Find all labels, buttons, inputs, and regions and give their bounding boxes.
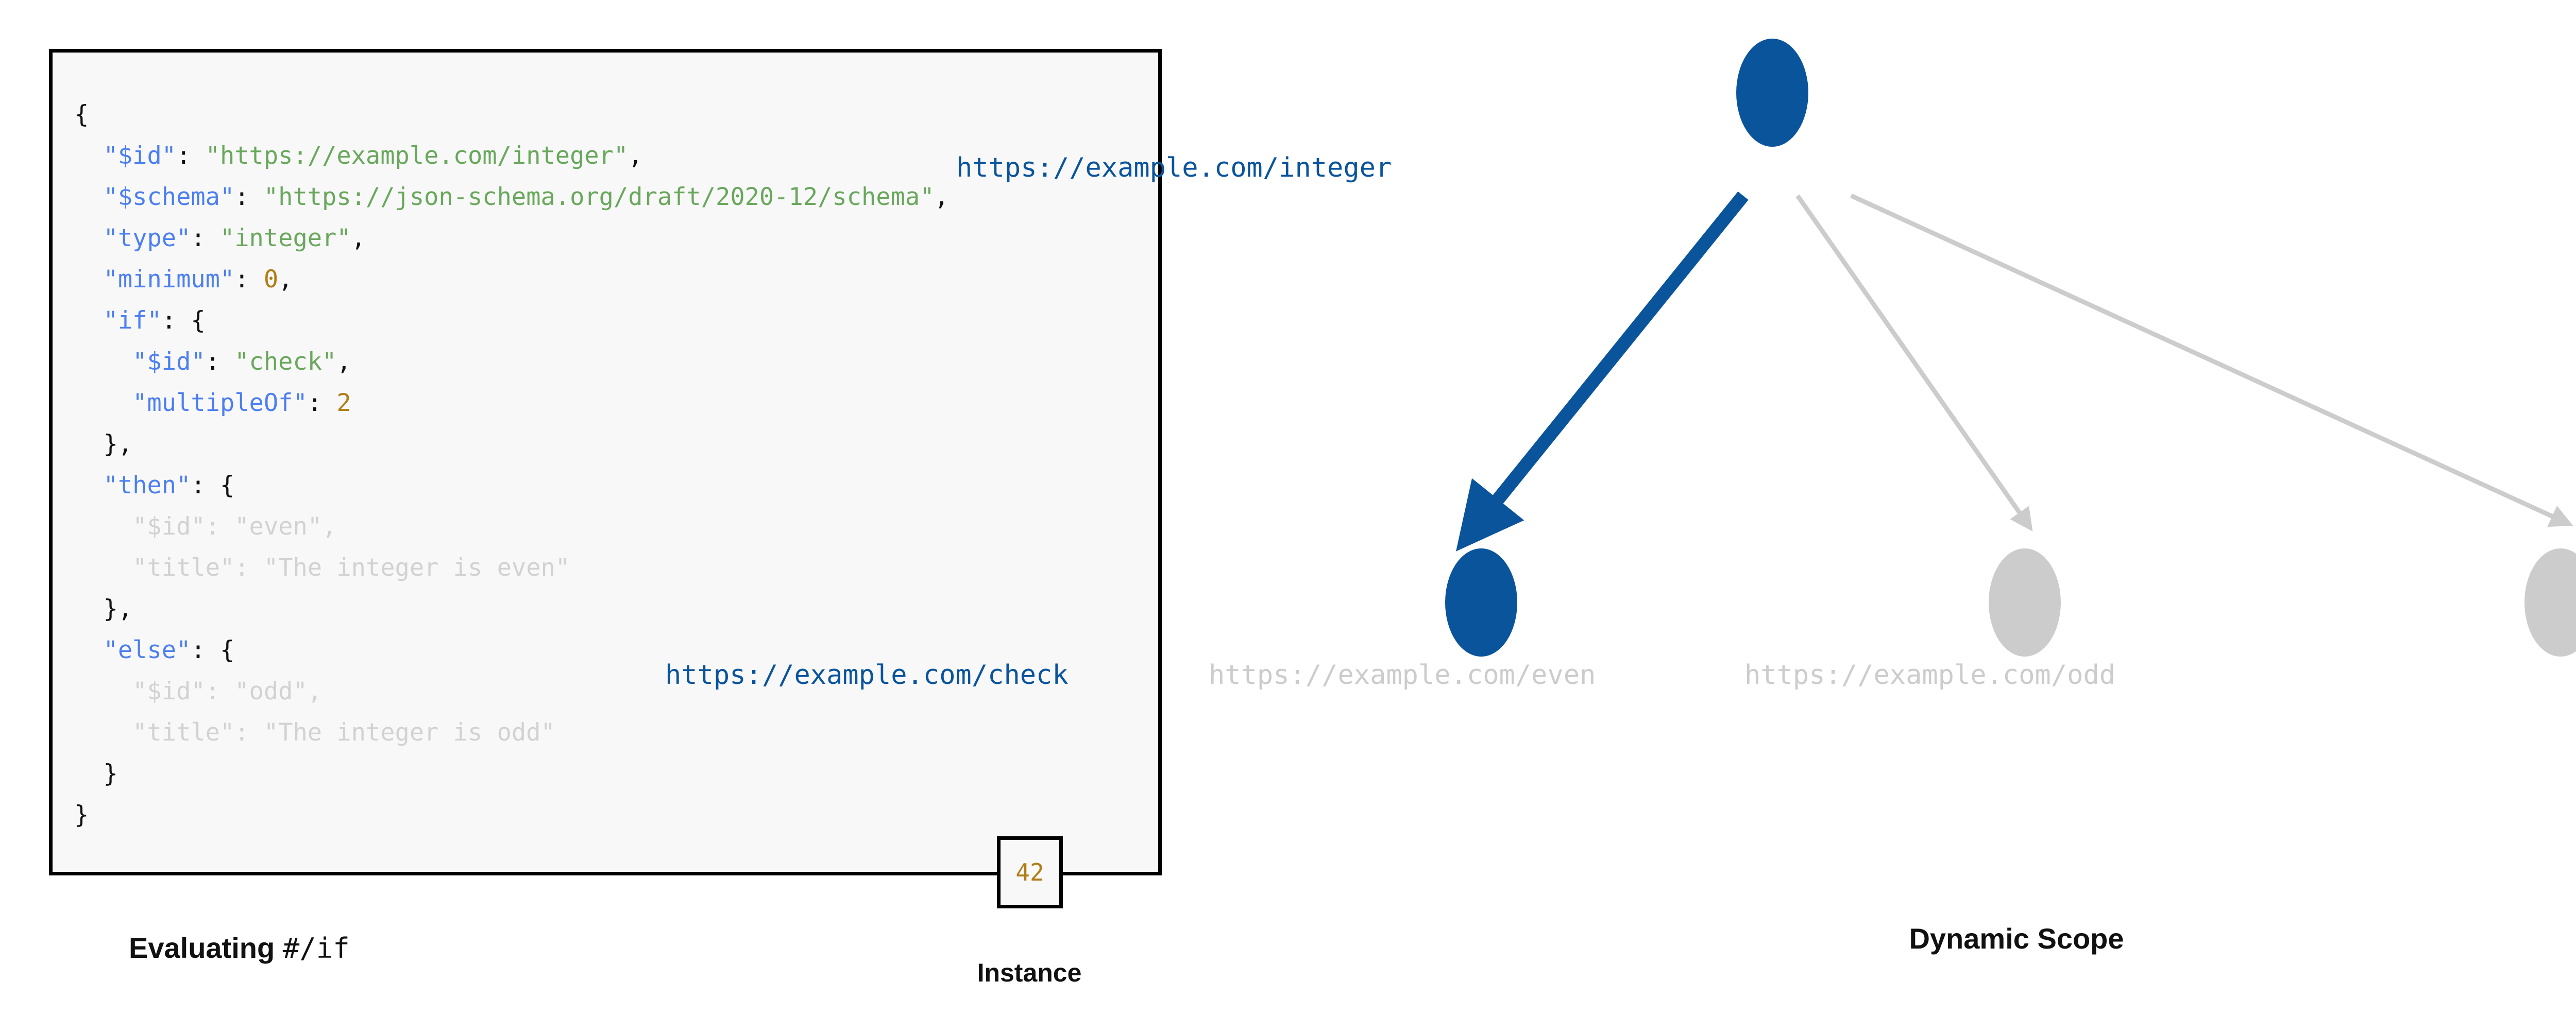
code-line: "minimum": 0, <box>74 259 949 300</box>
code-token: }, <box>104 595 133 623</box>
dynamic-scope-caption: Dynamic Scope <box>1733 922 2300 955</box>
code-token: { <box>74 100 89 129</box>
graph-node-even[interactable] <box>1989 548 2061 657</box>
evaluating-caption-pointer: #/if <box>283 932 350 965</box>
code-line: "type": "integer", <box>74 218 949 259</box>
code-token: } <box>74 801 89 829</box>
schema-code-listing: { "$id": "https://example.com/integer", … <box>74 94 949 836</box>
code-token: "else" <box>104 636 191 664</box>
instance-box: 42 <box>997 836 1063 908</box>
code-line: }, <box>74 589 949 630</box>
code-line: }, <box>74 424 949 465</box>
code-token: }, <box>104 430 133 458</box>
code-token: "check" <box>234 348 336 376</box>
code-line: "$id": "https://example.com/integer", <box>74 135 949 177</box>
code-token: , <box>336 348 351 376</box>
code-token: "https://example.com/integer" <box>206 142 629 170</box>
code-token: , <box>278 265 293 294</box>
evaluating-caption: Evaluating #/if <box>129 931 350 965</box>
code-line: "title": "The integer is odd" <box>74 712 949 753</box>
code-token: "if" <box>104 306 162 335</box>
graph-edges <box>1481 196 2561 520</box>
instance-caption: Instance <box>952 958 1107 988</box>
code-token: : <box>176 142 206 170</box>
code-token: "$id" <box>104 142 176 170</box>
code-token: "$schema" <box>104 183 235 211</box>
code-line: { <box>74 94 949 135</box>
code-line: } <box>74 795 949 836</box>
graph-edge <box>1481 196 1743 520</box>
code-token: , <box>628 142 642 170</box>
code-token: : <box>234 265 264 294</box>
graph-edge <box>1851 196 2561 520</box>
code-line: } <box>74 753 949 795</box>
code-token: "https://json-schema.org/draft/2020-12/s… <box>264 183 935 211</box>
code-line: "$id": "check", <box>74 341 949 383</box>
code-line: "then": { <box>74 465 949 506</box>
code-token: : { <box>162 306 206 335</box>
graph-node-label-even: https://example.com/even <box>1209 660 1596 691</box>
graph-node-check[interactable] <box>1445 548 1517 657</box>
graph-node-odd[interactable] <box>2524 548 2576 657</box>
code-token: "$id": "odd", <box>132 677 322 705</box>
graph-node-label-odd: https://example.com/odd <box>1744 660 2115 691</box>
code-token: , <box>935 183 949 211</box>
code-token: "integer" <box>220 224 351 252</box>
code-line: "$schema": "https://json-schema.org/draf… <box>74 177 949 218</box>
code-token: : <box>308 389 337 417</box>
code-token: } <box>104 760 118 788</box>
code-line: "$id": "even", <box>74 506 949 547</box>
code-line: "if": { <box>74 300 949 341</box>
code-token: : <box>206 348 235 376</box>
code-token: "multipleOf" <box>132 389 308 417</box>
code-line: "title": "The integer is even" <box>74 547 949 589</box>
code-token: : <box>191 224 220 252</box>
code-token: "title": "The integer is even" <box>132 554 570 582</box>
graph-edge <box>1798 196 2025 520</box>
graph-node-integer[interactable] <box>1736 39 1808 147</box>
code-token: : { <box>191 636 234 664</box>
code-token: 0 <box>264 265 278 294</box>
instance-value: 42 <box>1015 860 1044 884</box>
graph-node-label-check: https://example.com/check <box>665 660 1069 691</box>
code-token: "$id" <box>132 348 205 376</box>
code-line: "multipleOf": 2 <box>74 383 949 424</box>
code-token: "minimum" <box>104 265 235 294</box>
code-token: "$id": "even", <box>132 512 336 541</box>
code-token: 2 <box>336 389 351 417</box>
code-token: : { <box>191 471 234 500</box>
code-token: , <box>351 224 366 252</box>
diagram-canvas: { "$id": "https://example.com/integer", … <box>0 0 2576 1033</box>
code-token: "type" <box>104 224 191 252</box>
code-token: "then" <box>104 471 191 500</box>
graph-node-label-integer: https://example.com/integer <box>956 152 1392 183</box>
code-token: "title": "The integer is odd" <box>132 718 555 747</box>
dynamic-scope-panel: https://example.com/integerhttps://examp… <box>1200 0 2576 1033</box>
code-token: : <box>234 183 264 211</box>
scope-graph <box>1200 0 2576 906</box>
evaluating-caption-prefix: Evaluating <box>129 932 283 964</box>
